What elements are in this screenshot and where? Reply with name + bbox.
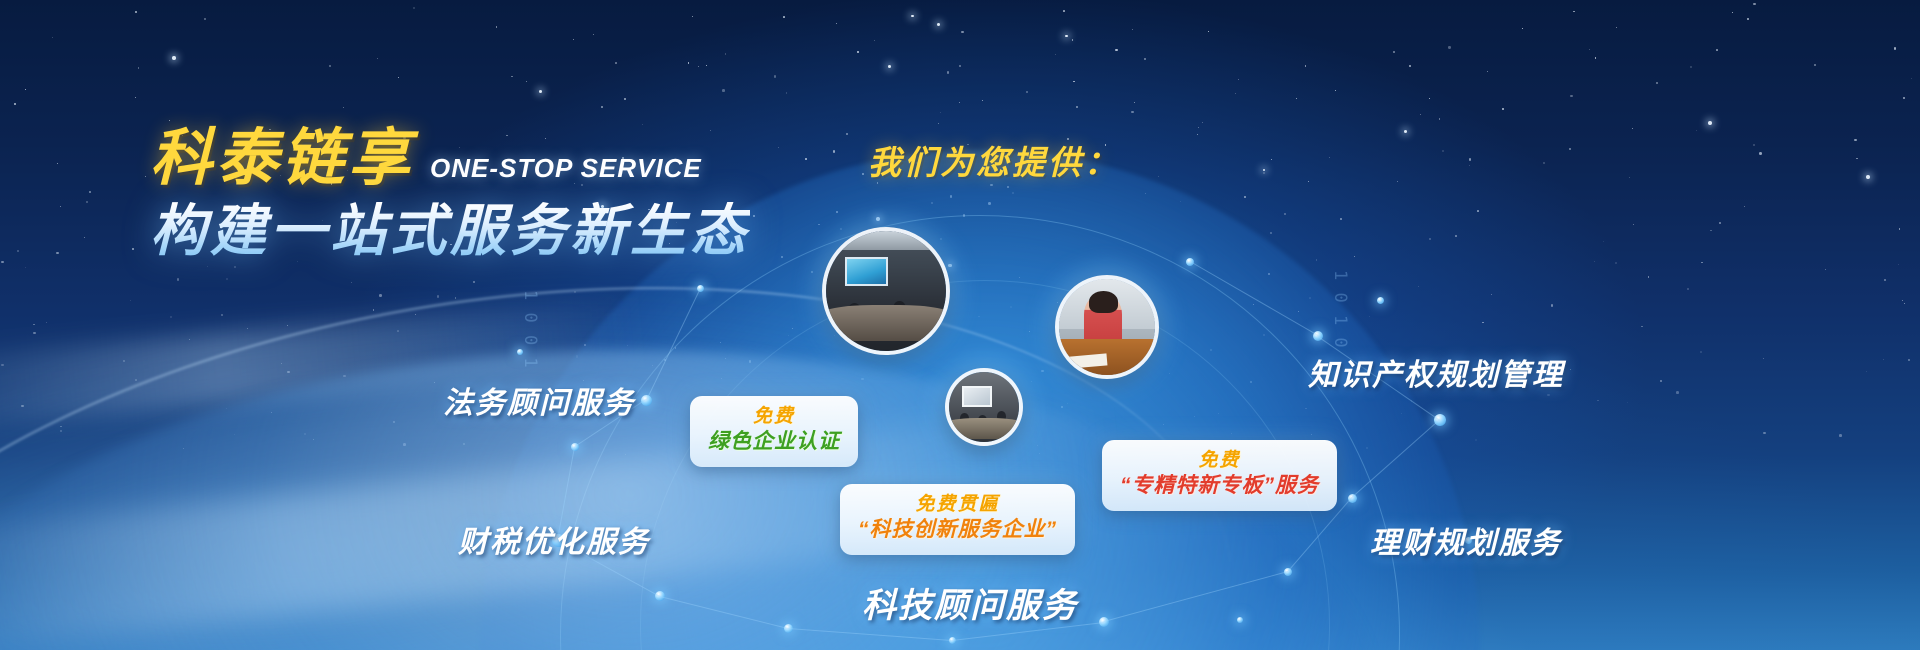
specialized-new-badge-line1: 免费 [1120,449,1319,473]
we-provide-label: 我们为您提供： [868,136,1120,184]
service-label-legal-advisory: 法务顾问服务 [443,378,635,422]
photo-bubble-small-meeting [945,368,1023,446]
specialized-new-badge-line2: “专精特新专板”服务 [1120,473,1319,499]
binary-digits-right: 1 0 1 0 [1330,270,1350,349]
service-label-wealth-planning: 理财规划服务 [1370,518,1562,562]
promo-banner: 1 0 0 1 1 0 1 0 科泰链享 ONE-STOP SERVICE 构建… [0,0,1920,650]
binary-digits-left: 1 0 0 1 [520,290,540,369]
headline-subtitle: 构建一站式服务新生态 [150,202,750,261]
headline-block: 科泰链享 ONE-STOP SERVICE 构建一站式服务新生态 [150,128,750,261]
service-label-finance-tax: 财税优化服务 [458,517,650,561]
green-enterprise-badge-line2: 绿色企业认证 [708,429,840,455]
service-label-tech-advisory: 科技顾问服务 [862,578,1078,627]
service-label-ip-planning: 知识产权规划管理 [1308,350,1564,394]
tech-innovation-badge-line1: 免费贯匾 [858,493,1057,517]
photo-bubble-consultant [1055,275,1159,379]
green-enterprise-badge-line1: 免费 [708,405,840,429]
brand-title: 科泰链享 [150,128,414,190]
green-enterprise-badge[interactable]: 免费 绿色企业认证 [690,396,858,467]
english-tagline: ONE-STOP SERVICE [430,153,702,190]
specialized-new-badge[interactable]: 免费 “专精特新专板”服务 [1102,440,1337,511]
tech-innovation-badge-line2: “科技创新服务企业” [858,517,1057,543]
photo-bubble-meeting [822,227,950,355]
tech-innovation-badge[interactable]: 免费贯匾 “科技创新服务企业” [840,484,1075,555]
